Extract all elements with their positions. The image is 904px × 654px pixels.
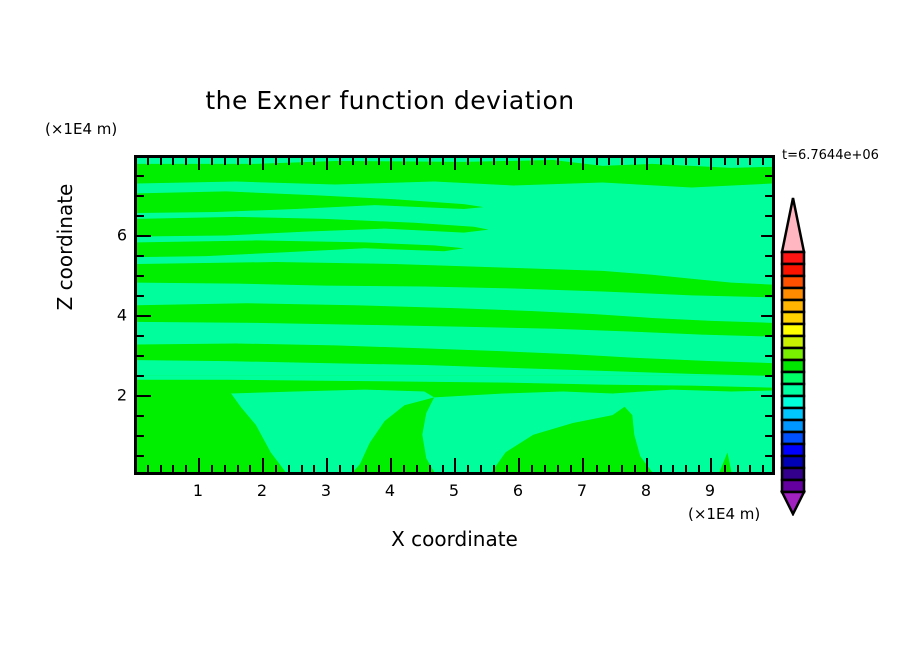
x-tick-label: 9 — [705, 481, 715, 500]
x-tick-label: 8 — [641, 481, 651, 500]
x-tick-minor — [467, 465, 469, 473]
x-tick-minor — [224, 157, 226, 165]
x-tick-minor — [570, 465, 572, 473]
x-tick-major-top — [710, 157, 712, 170]
x-tick-minor — [403, 465, 405, 473]
x-tick-minor — [301, 157, 303, 165]
x-tick-major — [454, 458, 456, 475]
x-tick-minor — [211, 157, 213, 165]
x-tick-minor — [352, 465, 354, 473]
x-tick-minor — [685, 465, 687, 473]
x-tick-minor — [365, 465, 367, 473]
x-tick-minor — [172, 465, 174, 473]
x-tick-minor — [749, 465, 751, 473]
x-tick-minor — [416, 465, 418, 473]
x-tick-label: 3 — [321, 481, 331, 500]
y-tick-minor — [136, 375, 144, 377]
y-tick-minor — [136, 175, 144, 177]
x-tick-minor — [493, 157, 495, 165]
y-tick-minor — [765, 455, 773, 457]
x-tick-major-top — [262, 157, 264, 170]
colorbar-under-arrow — [782, 492, 804, 514]
colorbar-swatches — [778, 196, 808, 516]
x-tick-minor — [378, 465, 380, 473]
x-tick-minor — [416, 157, 418, 165]
x-tick-minor — [429, 157, 431, 165]
y-tick-minor — [765, 355, 773, 357]
y-tick-minor — [765, 195, 773, 197]
x-tick-minor — [570, 157, 572, 165]
x-tick-minor — [685, 157, 687, 165]
y-tick-label: 6 — [117, 226, 127, 245]
x-tick-label: 5 — [449, 481, 459, 500]
page-title: the Exner function deviation — [0, 86, 780, 115]
y-tick-major — [134, 315, 151, 317]
x-axis-title: X coordinate — [134, 527, 775, 551]
x-tick-major — [262, 458, 264, 475]
x-tick-minor — [301, 465, 303, 473]
x-tick-minor — [749, 157, 751, 165]
x-tick-minor — [339, 157, 341, 165]
y-tick-minor — [765, 275, 773, 277]
y-tick-minor — [136, 295, 144, 297]
y-tick-minor — [136, 355, 144, 357]
x-tick-label: 4 — [385, 481, 395, 500]
x-tick-minor — [288, 465, 290, 473]
x-tick-minor — [557, 465, 559, 473]
contour-bottom-overlay — [137, 158, 772, 472]
x-tick-minor — [237, 465, 239, 473]
y-tick-minor — [765, 295, 773, 297]
x-tick-minor — [621, 465, 623, 473]
x-tick-minor — [275, 465, 277, 473]
x-tick-minor — [506, 465, 508, 473]
x-tick-minor — [313, 465, 315, 473]
y-tick-label: 2 — [117, 386, 127, 405]
x-tick-minor — [737, 157, 739, 165]
x-tick-minor — [557, 157, 559, 165]
x-tick-label: 6 — [513, 481, 523, 500]
y-tick-major — [134, 395, 151, 397]
x-tick-minor — [275, 157, 277, 165]
x-tick-major-top — [582, 157, 584, 170]
x-tick-minor — [249, 157, 251, 165]
x-tick-minor — [224, 465, 226, 473]
x-tick-major-top — [454, 157, 456, 170]
colorbar-bands — [782, 252, 804, 492]
colorbar-over-arrow — [782, 198, 804, 252]
x-tick-minor — [531, 157, 533, 165]
x-tick-minor — [160, 157, 162, 165]
contour-plot-area — [134, 155, 775, 475]
x-axis-unit-label: (×1E4 m) — [688, 505, 760, 523]
x-tick-minor — [634, 157, 636, 165]
x-tick-minor — [185, 157, 187, 165]
x-tick-minor — [352, 157, 354, 165]
x-tick-minor — [672, 465, 674, 473]
x-tick-minor — [467, 157, 469, 165]
x-tick-major — [390, 458, 392, 475]
x-tick-label: 1 — [193, 481, 203, 500]
x-tick-minor — [608, 465, 610, 473]
x-tick-minor — [672, 157, 674, 165]
y-axis-unit-label: (×1E4 m) — [45, 120, 117, 138]
x-tick-minor — [313, 157, 315, 165]
y-tick-major-right — [761, 315, 775, 317]
x-tick-minor — [365, 157, 367, 165]
y-tick-minor — [136, 195, 144, 197]
x-tick-minor — [596, 157, 598, 165]
x-tick-minor — [185, 465, 187, 473]
y-tick-minor — [136, 215, 144, 217]
x-tick-minor — [506, 157, 508, 165]
y-tick-minor — [136, 335, 144, 337]
x-tick-minor — [493, 465, 495, 473]
y-tick-minor — [765, 335, 773, 337]
x-tick-minor — [544, 157, 546, 165]
x-tick-minor — [762, 465, 764, 473]
x-tick-minor — [698, 465, 700, 473]
x-tick-major — [198, 458, 200, 475]
y-axis-title: Z coordinate — [53, 157, 77, 337]
x-tick-major — [646, 458, 648, 475]
y-tick-major-right — [761, 395, 775, 397]
x-tick-minor — [596, 465, 598, 473]
x-tick-minor — [698, 157, 700, 165]
y-tick-label: 4 — [117, 306, 127, 325]
y-tick-major-right — [761, 235, 775, 237]
x-tick-major — [710, 458, 712, 475]
x-tick-minor — [442, 157, 444, 165]
x-tick-minor — [660, 465, 662, 473]
x-tick-minor — [480, 157, 482, 165]
x-tick-minor — [621, 157, 623, 165]
figure-canvas: the Exner function deviation (×1E4 m) t=… — [0, 0, 904, 654]
colorbar: 9e−4 6e−4 3e−4 0 −3e−4 −6e−4 −9e−4 — [778, 196, 808, 516]
x-tick-label: 2 — [257, 481, 267, 500]
x-tick-minor — [634, 465, 636, 473]
x-tick-minor — [531, 465, 533, 473]
y-tick-minor — [136, 275, 144, 277]
y-tick-minor — [136, 435, 144, 437]
y-tick-minor — [136, 255, 144, 257]
y-tick-minor — [765, 415, 773, 417]
x-tick-minor — [288, 157, 290, 165]
x-tick-minor — [147, 465, 149, 473]
x-tick-minor — [403, 157, 405, 165]
y-tick-minor — [136, 415, 144, 417]
time-annotation: t=6.7644e+06 — [782, 148, 879, 163]
x-tick-major-top — [646, 157, 648, 170]
y-tick-minor — [765, 255, 773, 257]
x-tick-minor — [211, 465, 213, 473]
x-tick-minor — [660, 157, 662, 165]
x-tick-minor — [172, 157, 174, 165]
x-tick-minor — [762, 157, 764, 165]
x-tick-major-top — [390, 157, 392, 170]
x-tick-major-top — [326, 157, 328, 170]
x-tick-minor — [160, 465, 162, 473]
x-tick-minor — [339, 465, 341, 473]
y-tick-minor — [765, 375, 773, 377]
x-tick-major — [518, 458, 520, 475]
y-tick-minor — [136, 455, 144, 457]
x-tick-minor — [378, 157, 380, 165]
y-tick-major — [134, 235, 151, 237]
y-tick-minor — [765, 435, 773, 437]
x-tick-label: 7 — [577, 481, 587, 500]
x-tick-minor — [724, 465, 726, 473]
x-tick-minor — [480, 465, 482, 473]
x-tick-minor — [544, 465, 546, 473]
y-tick-minor — [765, 215, 773, 217]
x-tick-minor — [608, 157, 610, 165]
x-tick-minor — [442, 465, 444, 473]
x-tick-minor — [249, 465, 251, 473]
y-tick-minor — [765, 175, 773, 177]
x-tick-minor — [147, 157, 149, 165]
x-tick-major — [326, 458, 328, 475]
x-tick-major-top — [518, 157, 520, 170]
x-tick-minor — [237, 157, 239, 165]
x-tick-minor — [724, 157, 726, 165]
x-tick-minor — [737, 465, 739, 473]
x-tick-minor — [429, 465, 431, 473]
x-tick-major-top — [198, 157, 200, 170]
x-tick-major — [582, 458, 584, 475]
